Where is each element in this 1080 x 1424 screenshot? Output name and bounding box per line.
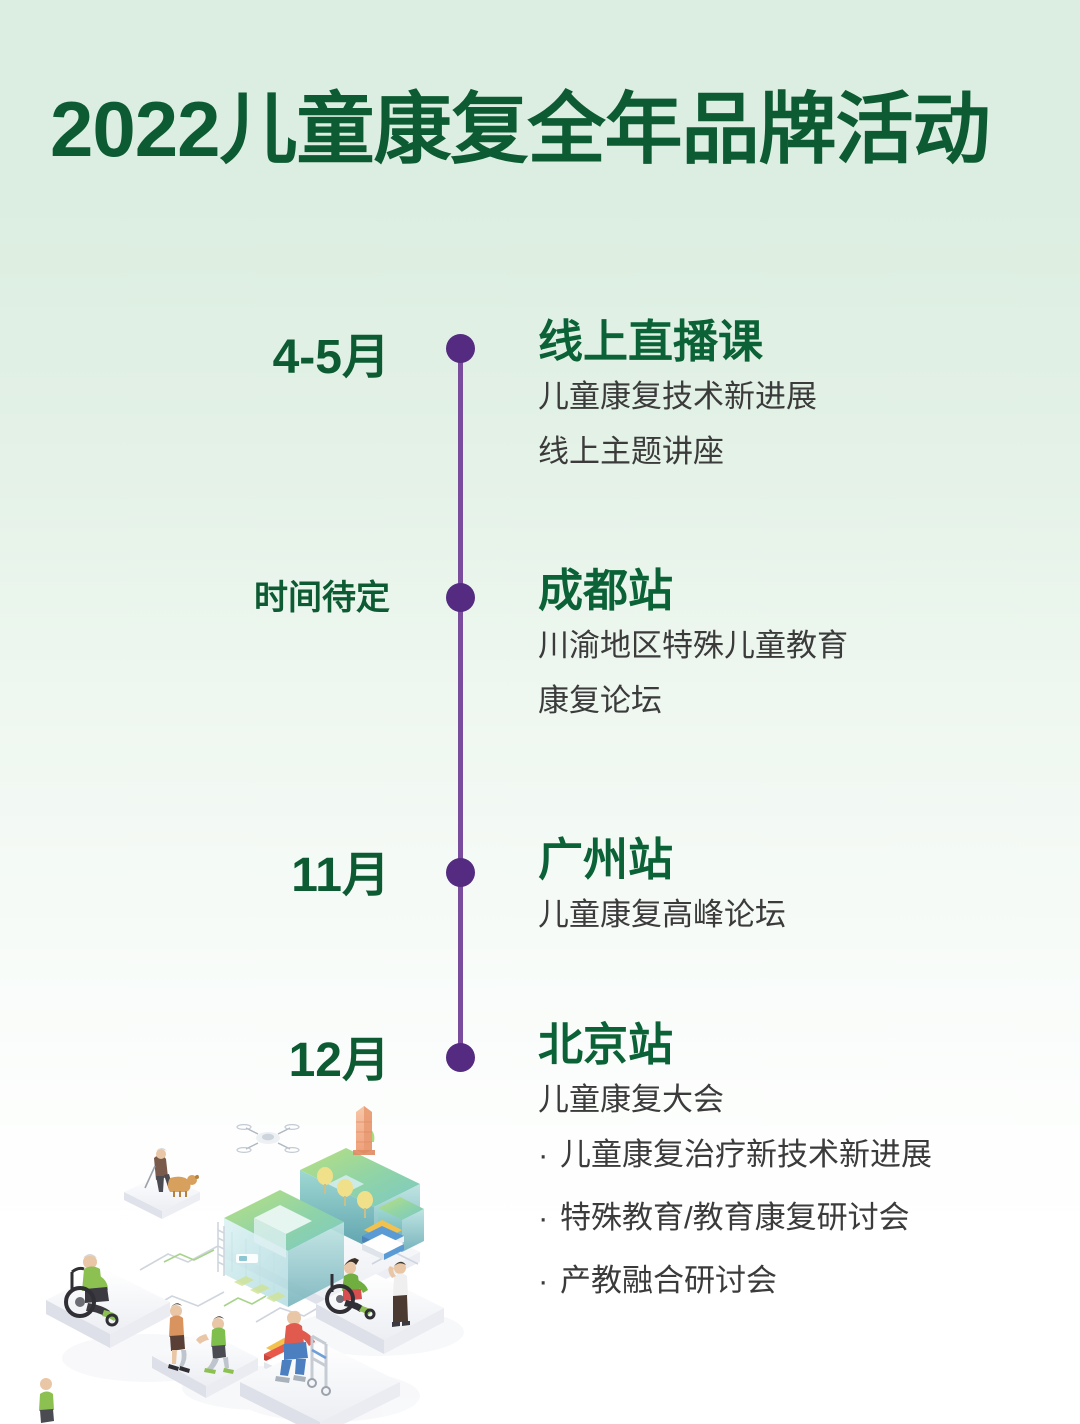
timeline-when-1: 4-5月 [60, 334, 390, 382]
timeline-dot-1 [446, 334, 475, 363]
timeline-detail-line: 康复论坛 [538, 685, 1068, 716]
timeline-detail-line: 川渝地区特殊儿童教育 [538, 630, 1068, 661]
bullet-marker-icon: · [538, 1202, 560, 1233]
obelisk-icon [353, 1106, 375, 1155]
timeline-bullet-list: ·儿童康复治疗新技术新进展 ·特殊教育/教育康复研讨会 ·产教融合研讨会 [538, 1139, 1068, 1296]
timeline-when-4: 12月 [60, 1037, 390, 1085]
drone-icon [237, 1125, 299, 1153]
list-item: ·特殊教育/教育康复研讨会 [538, 1202, 1068, 1233]
timeline-heading-4: 北京站 [538, 1021, 1068, 1068]
timeline-body-4: 北京站 儿童康复大会 ·儿童康复治疗新技术新进展 ·特殊教育/教育康复研讨会 ·… [538, 1021, 1068, 1296]
isometric-rehabilitation-illustration [28, 1096, 468, 1424]
timeline-body-3: 广州站 儿童康复高峰论坛 [538, 836, 1068, 930]
ladder-icon [218, 1222, 224, 1276]
bullet-marker-icon: · [538, 1139, 560, 1170]
timeline-when-2: 时间待定 [60, 581, 390, 615]
timeline-body-2: 成都站 川渝地区特殊儿童教育 康复论坛 [538, 567, 1068, 716]
list-item: ·儿童康复治疗新技术新进展 [538, 1139, 1068, 1170]
poster-root: 2022儿童康复全年品牌活动 4-5月 线上直播课 儿童康复技术新进展 线上主题… [0, 0, 1080, 1424]
list-item: ·产教融合研讨会 [538, 1265, 1068, 1296]
timeline-dot-2 [446, 583, 475, 612]
timeline-heading-1: 线上直播课 [538, 318, 1068, 365]
timeline-axis-line [458, 348, 463, 1058]
timeline-heading-3: 广州站 [538, 836, 1068, 883]
list-item-label: 特殊教育/教育康复研讨会 [560, 1200, 910, 1235]
timeline-dot-4 [446, 1043, 475, 1072]
list-item-label: 儿童康复治疗新技术新进展 [560, 1137, 932, 1172]
timeline-dot-3 [446, 858, 475, 887]
timeline-detail-line: 线上主题讲座 [538, 436, 1068, 467]
timeline-body-1: 线上直播课 儿童康复技术新进展 线上主题讲座 [538, 318, 1068, 467]
timeline-detail-line: 儿童康复高峰论坛 [538, 899, 1068, 930]
timeline-detail-line: 儿童康复大会 [538, 1084, 1068, 1115]
partial-runner-figure [39, 1378, 54, 1423]
timeline-detail-line: 儿童康复技术新进展 [538, 381, 1068, 412]
bullet-marker-icon: · [538, 1265, 560, 1296]
timeline-when-3: 11月 [60, 852, 390, 900]
list-item-label: 产教融合研讨会 [560, 1263, 777, 1298]
cr-letters-building [218, 1130, 424, 1307]
timeline-heading-2: 成都站 [538, 567, 1068, 614]
